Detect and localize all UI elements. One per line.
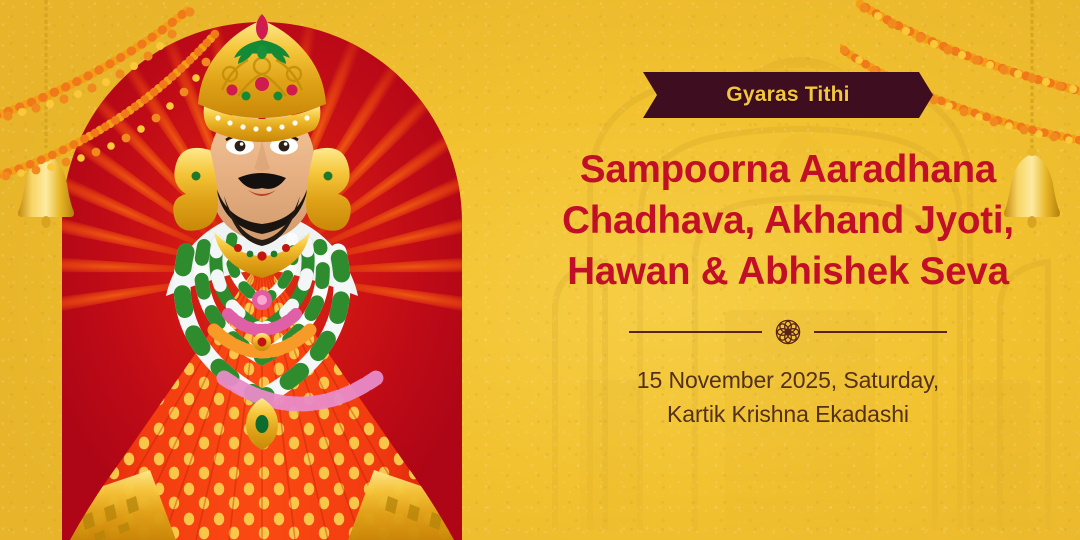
divider-rule-right [814, 331, 947, 333]
deity-robe [60, 250, 462, 540]
banner-content: Gyaras Tithi Sampoorna Aaradhana Chadhav… [496, 0, 1080, 540]
headline-line-1: Sampoorna Aaradhana [508, 144, 1068, 195]
khatu-shyam-ji-deity-portrait [0, 0, 520, 540]
event-date: 15 November 2025, Saturday, Kartik Krish… [637, 363, 939, 431]
hanging-temple-bell [16, 0, 76, 230]
deity-eyes [226, 136, 298, 155]
tithi-badge: Gyaras Tithi [643, 72, 933, 118]
red-temple-arch [62, 22, 462, 540]
headline-line-2: Chadhava, Akhand Jyoti, [508, 195, 1068, 246]
divider-rule-left [629, 331, 762, 333]
deity-crown [198, 14, 326, 142]
gold-necklace [214, 224, 310, 450]
devotional-event-banner: Gyaras Tithi Sampoorna Aaradhana Chadhav… [0, 0, 1080, 540]
tithi-badge-label: Gyaras Tithi [643, 72, 933, 118]
headline-line-3: Hawan & Abhishek Seva [508, 246, 1068, 297]
decorative-divider [629, 319, 947, 345]
deity-face [208, 108, 316, 246]
sunburst-rays [62, 22, 462, 540]
event-date-line-1: 15 November 2025, Saturday, [637, 363, 939, 397]
deity-shoulders [166, 188, 358, 296]
crown-crest [234, 14, 290, 64]
tilak-mark [258, 108, 266, 138]
necklace-pendant [246, 398, 278, 450]
page-title: Sampoorna Aaradhana Chadhava, Akhand Jyo… [508, 144, 1068, 297]
bell-body [18, 148, 74, 228]
robe-gold-border-right [348, 470, 462, 540]
ear-ornaments [173, 148, 351, 231]
robe-gold-border [62, 470, 176, 540]
event-date-line-2: Kartik Krishna Ekadashi [637, 397, 939, 431]
rosette-ornament [775, 319, 801, 345]
flower-garlands [182, 238, 376, 404]
deity-figure [0, 0, 520, 540]
